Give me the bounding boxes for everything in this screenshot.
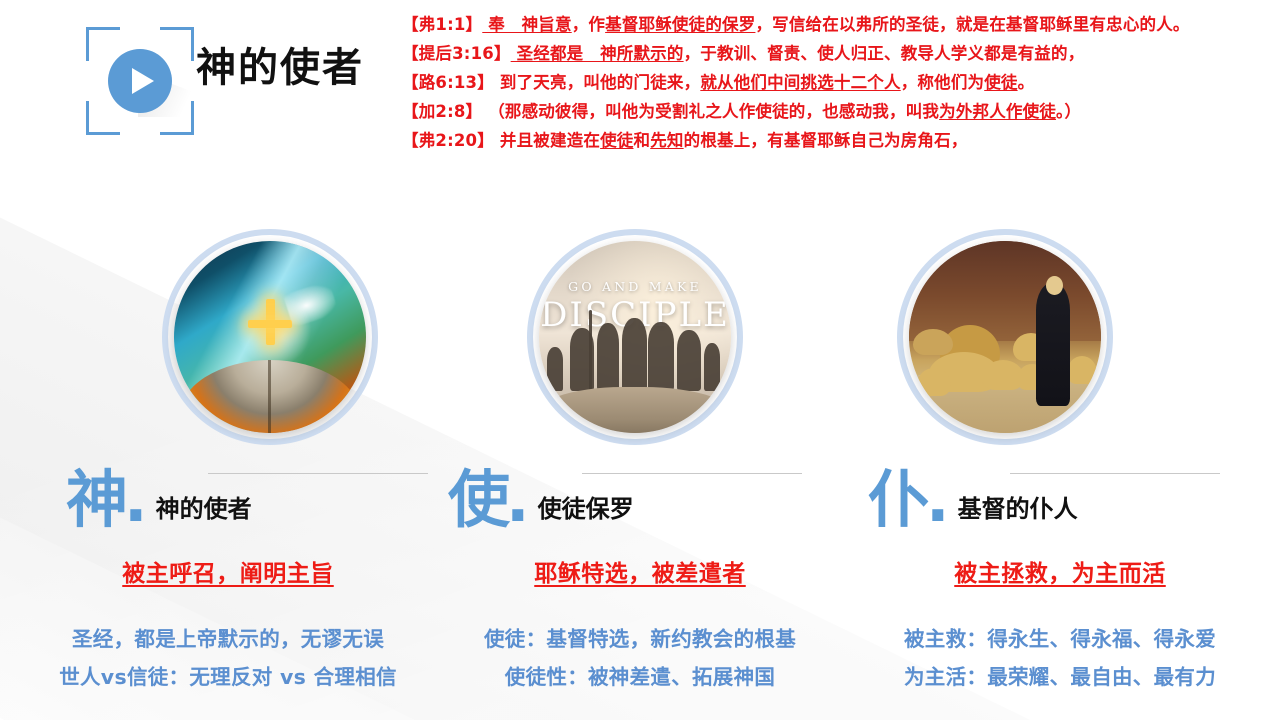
scripture-text: 的根基上，有基督耶稣自己为房角石， xyxy=(684,131,968,150)
headline-dot: . xyxy=(926,471,950,528)
scripture-text: 到了天亮，叫他的门徒来， xyxy=(494,73,700,92)
scripture-line: 【弗2:20】 并且被建造在使徒和先知的根基上，有基督耶稣自己为房角石， xyxy=(402,126,1274,155)
big-character: 神 xyxy=(66,471,128,528)
scripture-text: 和 xyxy=(634,131,651,150)
scripture-emphasis: 奉 神旨意 xyxy=(482,15,571,34)
column-headline: 神 . 神的使者 xyxy=(18,460,438,528)
blue-line: 使徒性：被神差遣、拓展神国 xyxy=(430,658,850,696)
daniel-in-lions-den-image xyxy=(909,241,1101,433)
big-character: 使 xyxy=(448,471,510,528)
play-button-icon xyxy=(86,27,194,135)
column-3: 仆 . 基督的仆人 被主拯救，为主而活 被主救：得永生、得永福、得永爱 为主活：… xyxy=(850,460,1270,696)
column-1: 神 . 神的使者 被主呼召，阐明主旨 圣经，都是上帝默示的，无谬无误 世人vs信… xyxy=(18,460,438,696)
blue-line: 圣经，都是上帝默示的，无谬无误 xyxy=(18,620,438,658)
go-and-make-disciples-image: GO AND MAKE DISCIPLE xyxy=(539,241,731,433)
scripture-line: 【弗1:1】 奉 神旨意，作基督耶稣使徒的保罗，写信给在以弗所的圣徒，就是在基督… xyxy=(402,10,1274,39)
scripture-emphasis: 圣经都是 神所默示的 xyxy=(511,44,684,63)
scripture-line: 【加2:8】 （那感动彼得，叫他为受割礼之人作使徒的，也感动我，叫我为外邦人作使… xyxy=(402,97,1274,126)
page-title: 神的使者 xyxy=(196,48,364,88)
circle-image-1 xyxy=(162,229,378,445)
column-red-line: 被主拯救，为主而活 xyxy=(850,554,1270,588)
scripture-reference: 【弗1:1】 xyxy=(402,15,482,34)
scripture-emphasis: 为外邦人作使徒 xyxy=(939,102,1056,121)
scripture-emphasis: 基督耶稣使徒的保罗 xyxy=(605,15,755,34)
blue-line: 世人vs信徒：无理反对 vs 合理相信 xyxy=(18,658,438,696)
scripture-emphasis: 就从他们中间挑选十二个人 xyxy=(700,73,900,92)
blue-line: 被主救：得永生、得永福、得永爱 xyxy=(850,620,1270,658)
scripture-reference: 【加2:8】 xyxy=(402,102,482,121)
scripture-text: ，于教训、督责、使人归正、教导人学义都是有益的， xyxy=(684,44,1085,63)
scripture-text: 。） xyxy=(1056,102,1081,121)
scripture-reference: 【提后3:16】 xyxy=(402,44,511,63)
cross-dove-bible-image xyxy=(174,241,366,433)
scripture-reference: 【弗2:20】 xyxy=(402,131,494,150)
column-blue-lines: 使徒：基督特选，新约教会的根基 使徒性：被神差遣、拓展神国 xyxy=(430,620,850,696)
circle-image-3 xyxy=(897,229,1113,445)
slide-canvas: 神的使者 【弗1:1】 奉 神旨意，作基督耶稣使徒的保罗，写信给在以弗所的圣徒，… xyxy=(0,0,1280,720)
column-headline: 使 . 使徒保罗 xyxy=(430,460,850,528)
scripture-text: 并且被建造在 xyxy=(494,131,600,150)
column-subtitle: 神的使者 xyxy=(156,489,252,528)
scripture-line: 【提后3:16】 圣经都是 神所默示的，于教训、督责、使人归正、教导人学义都是有… xyxy=(402,39,1274,68)
scripture-text: 。 xyxy=(1018,73,1035,92)
column-2: 使 . 使徒保罗 耶稣特选，被差遣者 使徒：基督特选，新约教会的根基 使徒性：被… xyxy=(430,460,850,696)
scripture-block: 【弗1:1】 奉 神旨意，作基督耶稣使徒的保罗，写信给在以弗所的圣徒，就是在基督… xyxy=(402,10,1274,155)
scripture-emphasis: 使徒 xyxy=(600,131,633,150)
column-subtitle: 使徒保罗 xyxy=(538,489,634,528)
scripture-text: ，写信给在以弗所的圣徒，就是在基督耶稣里有忠心的人。 xyxy=(755,15,1189,34)
column-blue-lines: 被主救：得永生、得永福、得永爱 为主活：最荣耀、最自由、最有力 xyxy=(850,620,1270,696)
scripture-reference: 【路6:13】 xyxy=(402,73,494,92)
scripture-emphasis: 使徒 xyxy=(984,73,1017,92)
column-red-line: 耶稣特选，被差遣者 xyxy=(430,554,850,588)
blue-line: 为主活：最荣耀、最自由、最有力 xyxy=(850,658,1270,696)
column-subtitle: 基督的仆人 xyxy=(958,489,1078,528)
circle-image-2: GO AND MAKE DISCIPLE xyxy=(527,229,743,445)
headline-dot: . xyxy=(124,471,148,528)
scripture-text: ，作 xyxy=(572,15,605,34)
blue-line: 使徒：基督特选，新约教会的根基 xyxy=(430,620,850,658)
image-caption-small: GO AND MAKE xyxy=(539,279,731,294)
column-blue-lines: 圣经，都是上帝默示的，无谬无误 世人vs信徒：无理反对 vs 合理相信 xyxy=(18,620,438,696)
scripture-text: ，称他们为 xyxy=(901,73,985,92)
scripture-emphasis: 先知 xyxy=(650,131,683,150)
big-character: 仆 xyxy=(868,471,930,528)
scripture-line: 【路6:13】 到了天亮，叫他的门徒来，就从他们中间挑选十二个人，称他们为使徒。 xyxy=(402,68,1274,97)
column-headline: 仆 . 基督的仆人 xyxy=(850,460,1270,528)
column-red-line: 被主呼召，阐明主旨 xyxy=(18,554,438,588)
scripture-text: （那感动彼得，叫他为受割礼之人作使徒的，也感动我，叫我 xyxy=(482,102,939,121)
headline-dot: . xyxy=(506,471,530,528)
